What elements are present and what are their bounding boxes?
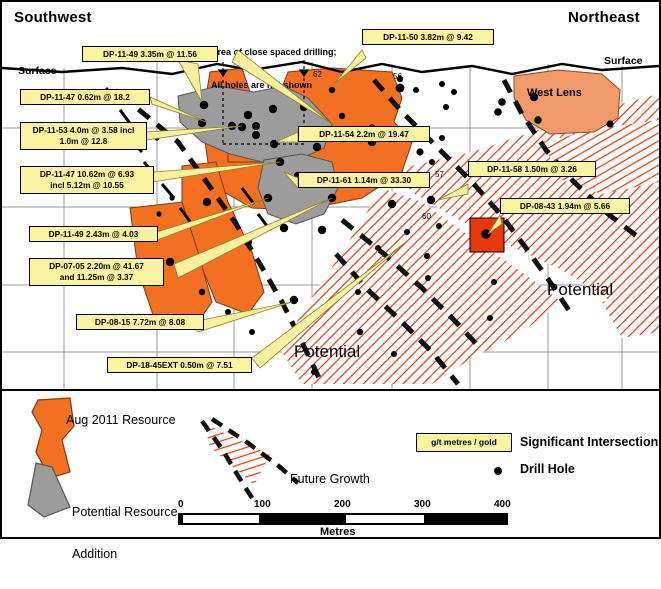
- legend-gt-box: g/t metres / gold: [416, 433, 512, 452]
- scale-bar-body: [178, 513, 508, 525]
- close-spaced-drilling-note-line1: Area of close spaced drilling;: [211, 47, 337, 58]
- callout-text-line1: DP-11-47 10.62m @ 6.93: [25, 169, 149, 180]
- legend-drill-hole-dot: [494, 467, 502, 475]
- legend-panel: Aug 2011 Resource Potential Resource Add…: [2, 389, 659, 537]
- callout-dp-08-43-1-94[interactable]: DP-08-43 1.94m @ 5.66: [500, 198, 630, 214]
- callout-text-line1: DP-11-53 4.0m @ 3.58 incl: [25, 125, 142, 136]
- callout-text: DP-11-49 3.35m @ 11.56: [103, 49, 197, 59]
- callout-text-line2: incl 5.12m @ 10.55: [25, 180, 149, 191]
- callout-text: DP-11-58 1.50m @ 3.26: [487, 164, 577, 174]
- callout-text: DP-18-45EXT 0.50m @ 7.51: [126, 360, 232, 370]
- legend-drill-hole-label: Drill Hole: [520, 462, 575, 476]
- callout-text: DP-11-61 1.14m @ 33.30: [317, 175, 411, 185]
- legend-significant-intersection-label: Significant Intersection: [520, 435, 658, 449]
- scale-bar: 0 100 200 300 400 Metres: [178, 499, 518, 533]
- callout-dp-11-61-1-14[interactable]: DP-11-61 1.14m @ 33.30: [298, 172, 430, 188]
- scale-bar-segment-white-1: [183, 515, 259, 523]
- callout-dp-07-05-2-20[interactable]: DP-07-05 2.20m @ 41.67 and 11.25m @ 3.37: [29, 258, 164, 286]
- surface-label-left: Surface: [18, 65, 57, 77]
- callout-dp-11-47-0-62[interactable]: DP-11-47 0.62m @ 18.2: [20, 89, 150, 105]
- scale-tick-400: 400: [494, 499, 511, 510]
- callout-dp-11-47-10-62[interactable]: DP-11-47 10.62m @ 6.93 incl 5.12m @ 10.5…: [20, 166, 154, 194]
- drill-hole-number-57: 57: [435, 170, 444, 179]
- cross-section-figure: 62 56 57 60 West Lens Potential Potentia…: [0, 0, 661, 539]
- legend-potential-label-line1: Potential Resource: [72, 505, 178, 519]
- orientation-label-northeast: Northeast: [568, 9, 640, 26]
- scale-tick-100: 100: [254, 499, 271, 510]
- callout-text: DP-11-47 0.62m @ 18.2: [40, 92, 130, 102]
- callout-dp-11-49-2-43[interactable]: DP-11-49 2.43m @ 4.03: [29, 226, 158, 242]
- callout-text-line2: and 11.25m @ 3.37: [34, 272, 159, 283]
- orientation-label-southwest: Southwest: [14, 9, 92, 26]
- callout-dp-11-54-2-2[interactable]: DP-11-54 2.2m @ 19.47: [298, 126, 430, 142]
- potential-label-right: Potential: [547, 280, 613, 300]
- callout-dp-11-50-3-82[interactable]: DP-11-50 3.82m @ 9.42: [362, 29, 494, 45]
- scale-tick-300: 300: [414, 499, 431, 510]
- scale-tick-200: 200: [334, 499, 351, 510]
- scale-bar-segment-white-2: [346, 515, 424, 523]
- callout-text-line1: DP-07-05 2.20m @ 41.67: [34, 261, 159, 272]
- legend-potential-label: Potential Resource Addition: [72, 477, 178, 589]
- legend-future-growth-label-line1: Future Growth: [290, 472, 370, 486]
- close-spaced-drilling-note-line2: All holes are not shown: [211, 80, 337, 91]
- legend-gt-box-label: g/t metres / gold: [431, 437, 497, 447]
- callout-dp-18-45ext-0-50[interactable]: DP-18-45EXT 0.50m @ 7.51: [107, 357, 252, 373]
- callout-text: DP-11-54 2.2m @ 19.47: [319, 129, 409, 139]
- scale-tick-0: 0: [178, 499, 184, 510]
- callout-dp-11-58-1-50[interactable]: DP-11-58 1.50m @ 3.26: [468, 161, 596, 177]
- drill-hole-number-56: 56: [393, 72, 402, 81]
- surface-label-right: Surface: [604, 55, 643, 67]
- callout-text-line2: 1.0m @ 12.8: [25, 136, 142, 147]
- callout-text: DP-11-49 2.43m @ 4.03: [49, 229, 139, 239]
- scale-bar-unit-label: Metres: [320, 526, 355, 538]
- callout-text: DP-08-15 7.72m @ 8.08: [95, 317, 185, 327]
- callout-dp-08-15-7-72[interactable]: DP-08-15 7.72m @ 8.08: [76, 314, 204, 330]
- potential-label-left: Potential: [294, 342, 360, 362]
- close-spaced-drilling-note: Area of close spaced drilling; All holes…: [211, 25, 337, 113]
- west-lens-label: West Lens: [527, 87, 582, 99]
- callout-dp-11-49-3-35[interactable]: DP-11-49 3.35m @ 11.56: [82, 46, 218, 62]
- legend-potential-label-line2: Addition: [72, 547, 178, 561]
- legend-resource-label: Aug 2011 Resource: [66, 413, 176, 427]
- callout-text: DP-08-43 1.94m @ 5.66: [520, 201, 610, 211]
- callout-dp-11-53-4-0[interactable]: DP-11-53 4.0m @ 3.58 incl 1.0m @ 12.8: [20, 122, 147, 150]
- callout-text: DP-11-50 3.82m @ 9.42: [383, 32, 473, 42]
- drill-hole-number-60: 60: [422, 212, 431, 221]
